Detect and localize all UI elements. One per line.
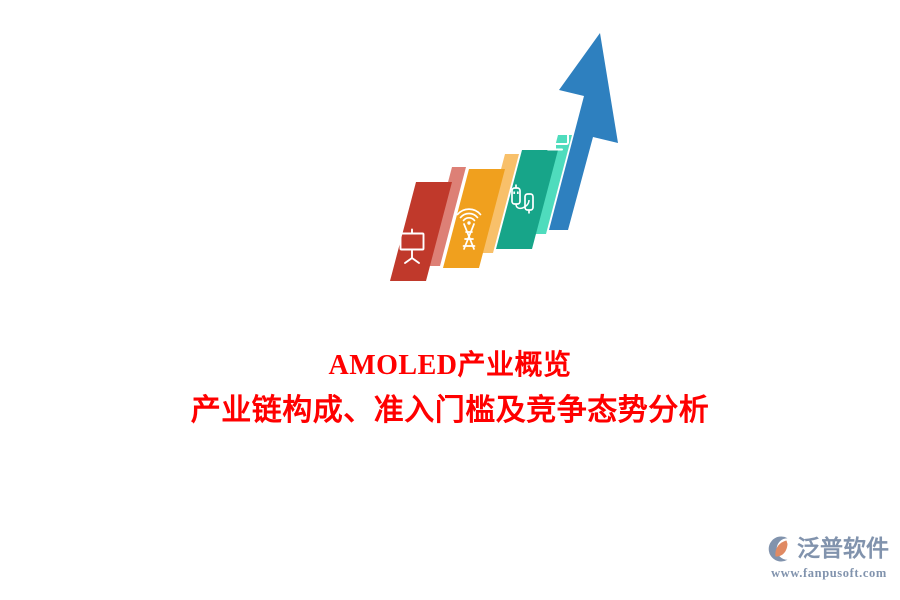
segment-4-arrow-body — [549, 33, 618, 230]
page-title-sub: 产业链构成、准入门槛及竞争态势分析 — [0, 396, 900, 426]
logo-wordmark: 泛普软件 — [797, 538, 889, 561]
logo-url: www.fanpusoft.com — [766, 566, 892, 581]
page-title-main: AMOLED产业概览 — [0, 352, 900, 380]
title-block: AMOLED产业概览 产业链构成、准入门槛及竞争态势分析 — [0, 352, 900, 426]
fanpu-logo: 泛普软件 www.fanpusoft.com — [766, 534, 892, 580]
logo-row: 泛普软件 — [766, 534, 892, 564]
ascending-arrow-graphic — [370, 18, 630, 308]
fanpu-circle-leaf-logo-icon — [766, 535, 794, 563]
slide-canvas: AMOLED产业概览 产业链构成、准入门槛及竞争态势分析 泛普软件 www.fa… — [0, 0, 900, 600]
